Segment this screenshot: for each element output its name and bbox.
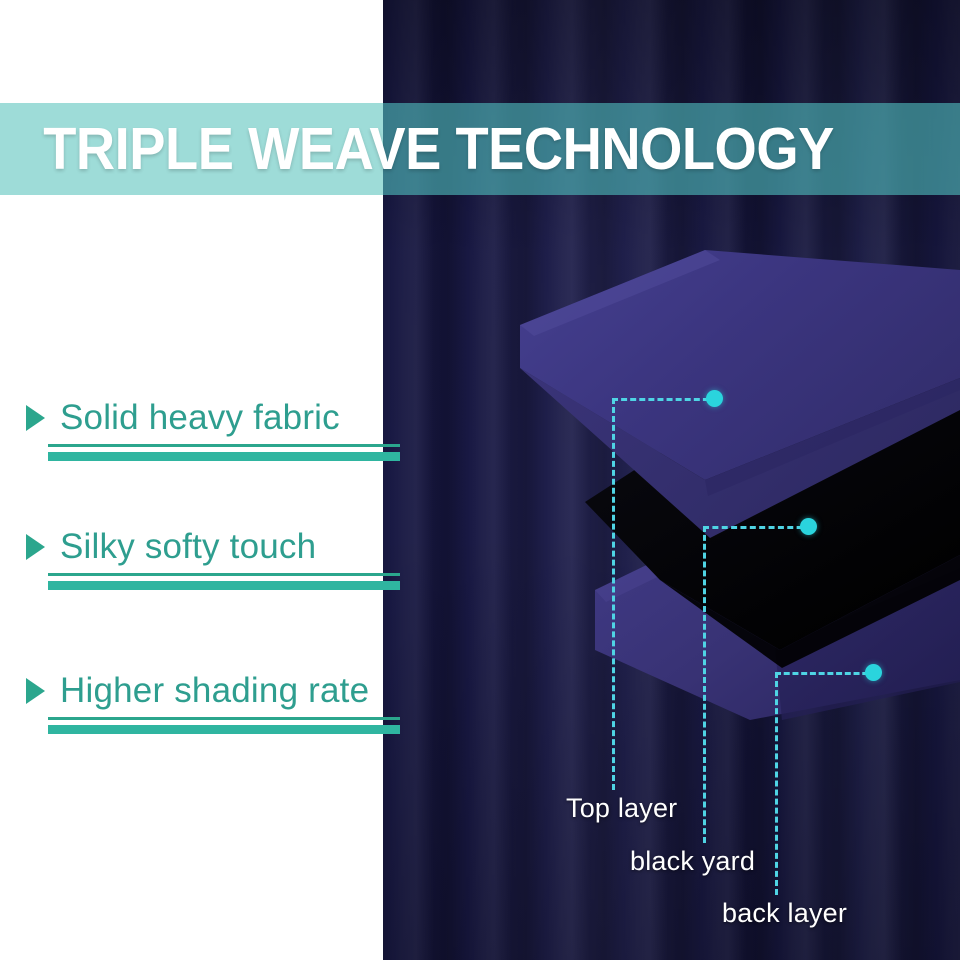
- callout-label-black-yard: black yard: [630, 846, 755, 877]
- leader-line-horizontal-black-yard: [703, 526, 812, 529]
- feature-underline-thick-1: [48, 452, 400, 461]
- leader-dot-black-yard: [800, 518, 817, 535]
- title-banner: TRIPLE WEAVE TECHNOLOGY: [0, 103, 960, 195]
- leader-dot-back-layer: [865, 664, 882, 681]
- feature-item-solid-heavy-fabric: Solid heavy fabric: [0, 398, 420, 438]
- infographic-canvas: Top layer black yard back layer TRIPLE W…: [0, 0, 960, 960]
- leader-line-vertical-back-layer: [775, 672, 778, 895]
- leader-line-horizontal-back-layer: [775, 672, 877, 675]
- feature-underline-thin-2: [48, 573, 400, 576]
- feature-underline-thick-2: [48, 581, 400, 590]
- feature-item-higher-shading-rate: Higher shading rate: [0, 671, 420, 711]
- feature-label: Higher shading rate: [60, 671, 369, 711]
- triangle-right-icon: [26, 534, 45, 560]
- feature-item-silky-softy-touch: Silky softy touch: [0, 527, 420, 567]
- callout-label-top-layer: Top layer: [566, 793, 677, 824]
- feature-label: Silky softy touch: [60, 527, 316, 567]
- triangle-right-icon: [26, 678, 45, 704]
- three-layer-fabric-diagram: [520, 250, 960, 720]
- page-title: TRIPLE WEAVE TECHNOLOGY: [0, 103, 883, 195]
- feature-underline-thin-1: [48, 444, 400, 447]
- leader-line-vertical-top-layer: [612, 398, 615, 790]
- leader-dot-top-layer: [706, 390, 723, 407]
- callout-label-back-layer: back layer: [722, 898, 847, 929]
- feature-underline-thin-3: [48, 717, 400, 720]
- leader-line-horizontal-top-layer: [612, 398, 718, 401]
- feature-underline-thick-3: [48, 725, 400, 734]
- feature-label: Solid heavy fabric: [60, 398, 340, 438]
- triangle-right-icon: [26, 405, 45, 431]
- leader-line-vertical-black-yard: [703, 526, 706, 843]
